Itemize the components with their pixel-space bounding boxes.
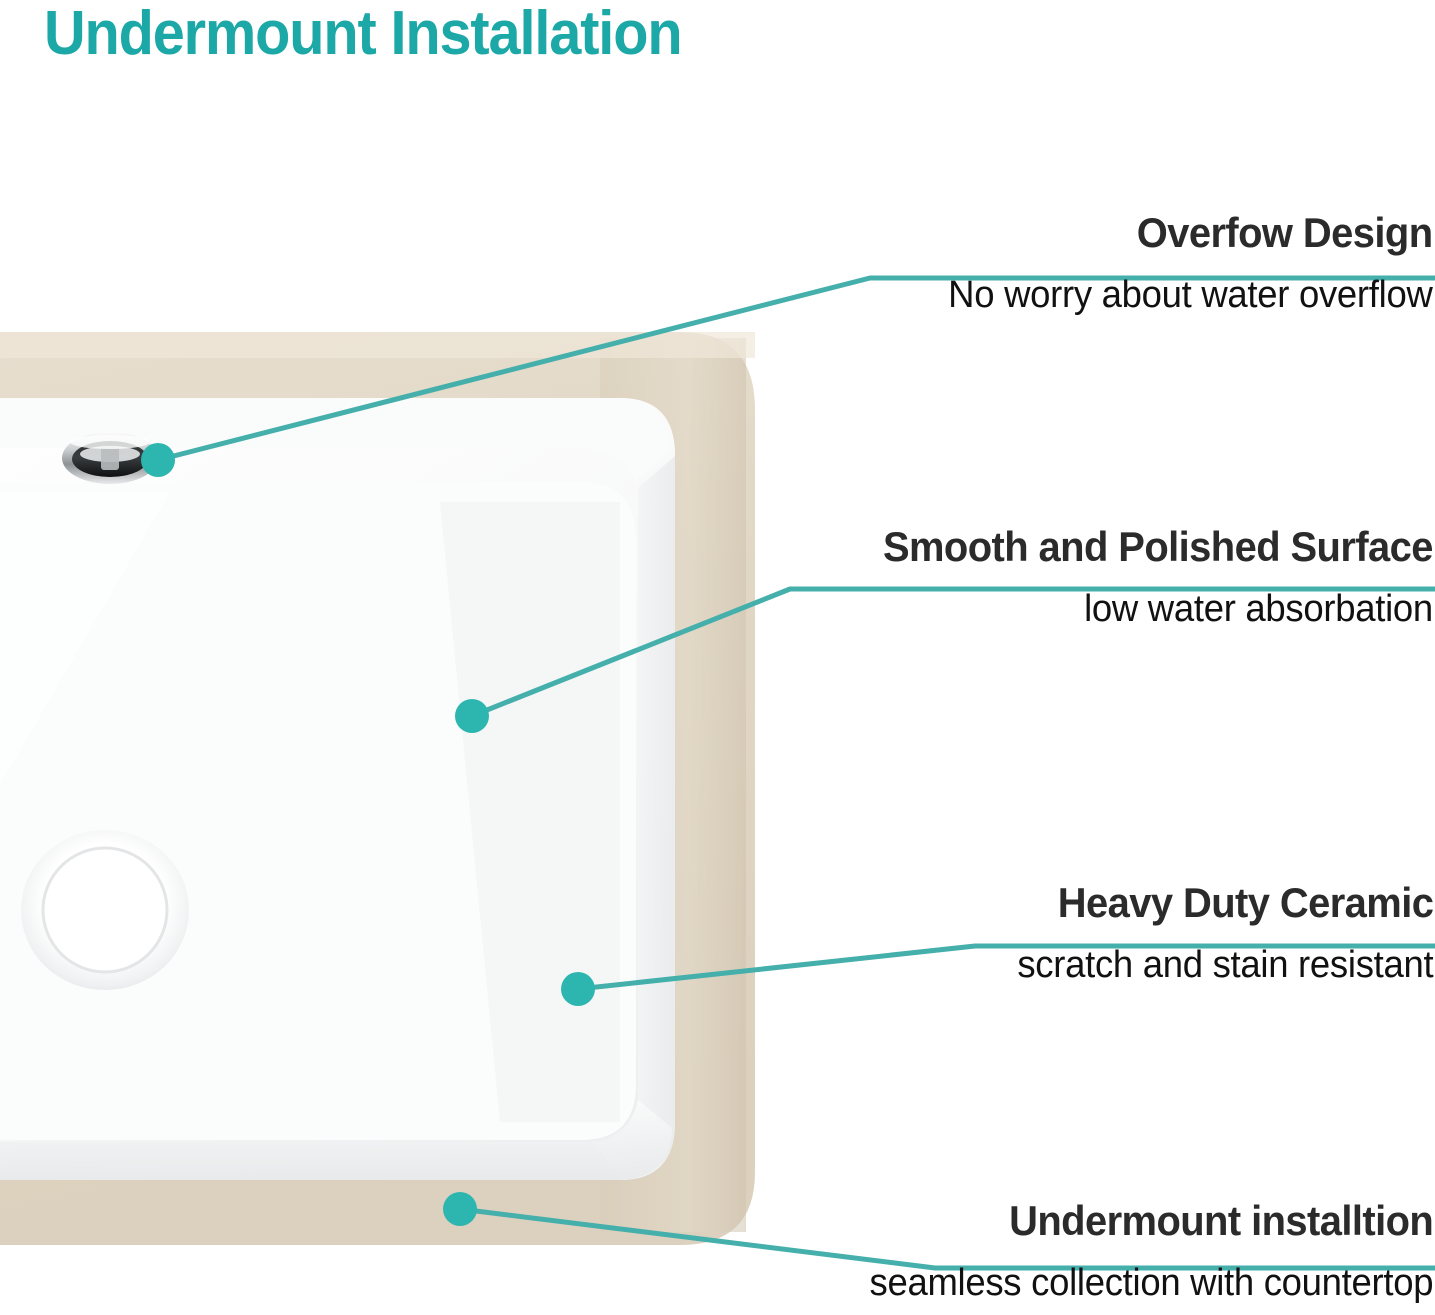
- infographic-page: Undermount Installation: [0, 0, 1435, 1315]
- callout-heavy-duty-ceramic: Heavy Duty Ceramic scratch and stain res…: [1000, 878, 1433, 988]
- callout-title-smooth-polished-surface: Smooth and Polished Surface: [883, 522, 1433, 572]
- callout-undermount-installation: Undermount installtion seamless collecti…: [846, 1196, 1433, 1306]
- callout-title-heavy-duty-ceramic: Heavy Duty Ceramic: [1021, 878, 1433, 928]
- overflow-hole: [62, 432, 158, 484]
- callout-title-overflow-design: Overfow Design: [954, 208, 1433, 258]
- callout-title-undermount-installation: Undermount installtion: [875, 1196, 1433, 1246]
- sink-product-image: [0, 332, 760, 1247]
- callout-subtitle-undermount-installation: seamless collection with countertop: [869, 1260, 1433, 1306]
- callout-subtitle-heavy-duty-ceramic: scratch and stain resistant: [1017, 942, 1433, 988]
- callout-overflow-design: Overfow Design No worry about water over…: [928, 208, 1433, 318]
- callout-subtitle-smooth-polished-surface: low water absorbation: [877, 586, 1433, 632]
- callout-subtitle-overflow-design: No worry about water overflow: [949, 272, 1433, 318]
- drain-hole: [21, 830, 189, 990]
- callout-smooth-polished-surface: Smooth and Polished Surface low water ab…: [854, 522, 1433, 632]
- countertop-top-highlight: [0, 332, 755, 358]
- page-title: Undermount Installation: [44, 0, 681, 70]
